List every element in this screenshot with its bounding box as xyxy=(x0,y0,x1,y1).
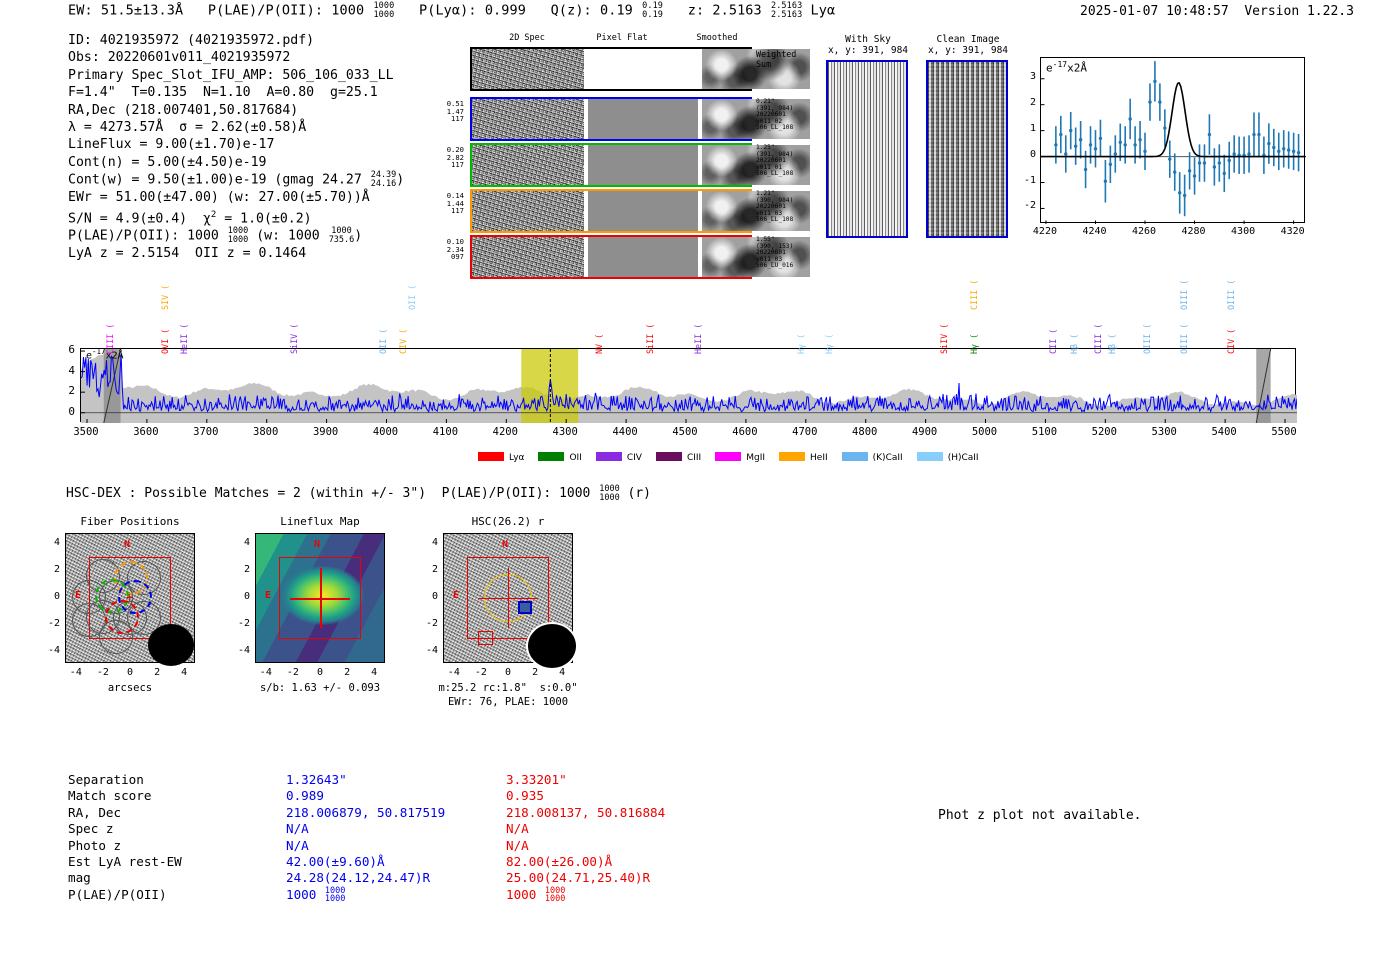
bright-star-blob-2 xyxy=(526,622,578,670)
spec2d-cell-1-0 xyxy=(472,145,584,185)
spec2d-cell-0-0 xyxy=(472,99,584,139)
fraction: 10001000 xyxy=(228,227,248,244)
imaging-xtick-1-4: 4 xyxy=(360,667,388,678)
info-line-z: LyA z = 2.5154 OII z = 0.1464 xyxy=(68,245,404,262)
table-row-match1-2: 218.006879, 50.817519 xyxy=(286,805,445,821)
spec2d-row-side-0: 0.21" (391, 984) 20220601 v011_02 506_LL… xyxy=(756,99,793,132)
legend-swatch-MgII xyxy=(715,452,741,461)
spec2d-cell-3-0 xyxy=(472,237,584,277)
full-spectrum-xtick-4100: 4100 xyxy=(419,426,471,438)
spectrum-line-label-10: HeII ( xyxy=(693,324,703,354)
full-spectrum-xtick-3800: 3800 xyxy=(240,426,292,438)
imaging-xlabel-0: arcsecs xyxy=(33,682,227,694)
spectrum-line-label-9: SiII ( xyxy=(645,324,655,354)
imaging-xtick-2--2: -2 xyxy=(467,667,495,678)
table-row-match2-0: 3.33201" xyxy=(506,772,567,788)
table-row-label-3: Spec z xyxy=(68,821,114,837)
full-spectrum-xtick-3500: 3500 xyxy=(60,426,112,438)
table-row-match1-7: 1000 10001000 xyxy=(286,887,345,904)
fraction: 24.3924.16 xyxy=(371,171,397,188)
spectrum-line-label-16: CII ( xyxy=(1048,329,1058,354)
spec2d-fiber-row-1 xyxy=(470,143,752,187)
spectrum-line-label-2: HeII ( xyxy=(179,324,189,354)
info-line-plae: P(LAE)/P(OII): 1000 10001000 (w: 1000 10… xyxy=(68,227,404,245)
imaging-ytick-0-2: 2 xyxy=(43,564,60,575)
full-spectrum-xtick-3900: 3900 xyxy=(300,426,352,438)
legend-item-(H)CaII: (H)CaII xyxy=(917,452,979,463)
table-row-label-7: P(LAE)/P(OII) xyxy=(68,887,167,903)
spectrum-line-label-1: OVI ( xyxy=(160,329,170,354)
table-row-label-4: Photo z xyxy=(68,838,121,854)
info-line: Cont(n) = 5.00(±4.50)e-19 xyxy=(68,154,404,171)
imaging-xtick-1--4: -4 xyxy=(252,667,280,678)
legend-label-(H)CaII: (H)CaII xyxy=(948,453,979,463)
imaging-ytick-1--4: -4 xyxy=(233,645,250,656)
spectrum-line-label-19: Hβ ( xyxy=(1107,334,1117,354)
line-profile-ytick-3: 3 xyxy=(1018,71,1036,82)
spec2d-row-side-2: 1.21" (390, 984) 20220601 v011_03 506_LL… xyxy=(756,191,793,224)
cutout-image-clean-image xyxy=(926,60,1008,238)
imaging-ytick-1-4: 4 xyxy=(233,537,250,548)
table-row-match1-5: 42.00(±9.60)Å xyxy=(286,854,385,870)
info-line: LineFlux = 9.00(±1.70)e-17 xyxy=(68,136,404,153)
summary-header: EW: 51.5±13.3Å P(LAE)/P(OII): 1000 10001… xyxy=(68,2,835,19)
spectrum-line-label-4: SiIV ( xyxy=(289,324,299,354)
compass-n-1: N xyxy=(314,539,320,550)
weighted-sum-label: Weighted Sum xyxy=(756,50,796,69)
line-profile-xtick-4220: 4220 xyxy=(1023,226,1067,237)
spectrum-line-label-8: NV ( xyxy=(594,334,604,354)
legend-swatch-HeII xyxy=(779,452,805,461)
imaging-ytick-2-4: 4 xyxy=(421,537,438,548)
spectrum-line-label-24: OIII ( xyxy=(1226,280,1236,310)
legend-item-(K)CaII: (K)CaII xyxy=(842,452,903,463)
imaging-ytick-0-4: 4 xyxy=(43,537,60,548)
legend-swatch-OII xyxy=(538,452,564,461)
imaging-ytick-0--4: -4 xyxy=(43,645,60,656)
full-spectrum-ytick-0: 0 xyxy=(60,405,75,418)
spectrum-line-label-21: OIII ( xyxy=(1179,324,1189,354)
bright-star-blob-0 xyxy=(148,624,194,666)
spec2d-cell-3-1 xyxy=(588,237,698,277)
compass-e-1: E xyxy=(265,590,271,601)
source-info-block: ID: 4021935972 (4021935972.pdf)Obs: 2022… xyxy=(68,32,404,263)
imaging-xtick-0-2: 2 xyxy=(143,667,171,678)
spec2d-fiber-row-2 xyxy=(470,189,752,233)
spec2d-weighted-cell-1 xyxy=(588,49,698,89)
info-line: F=1.4" T=0.135 N=1.10 A=0.80 g=25.1 xyxy=(68,84,404,101)
table-row-match1-4: N/A xyxy=(286,838,309,854)
spec2d-fiber-row-3 xyxy=(470,235,752,279)
spec2d-row-meta-1: 0.20 2.82 117 xyxy=(428,146,464,169)
info-line-sn: S/N = 4.9(±0.4) χ2 = 1.0(±0.2) xyxy=(68,207,404,228)
spec2d-col-header-2: Smoothed xyxy=(672,33,762,43)
line-profile-xtick-4300: 4300 xyxy=(1221,226,1265,237)
fraction: 0.190.19 xyxy=(642,2,663,19)
imaging-ytick-1-0: 0 xyxy=(233,591,250,602)
full-spectrum-ytick-4: 4 xyxy=(60,364,75,377)
spec2d-row-meta-3: 0.10 2.34 097 xyxy=(428,238,464,261)
table-row-label-0: Separation xyxy=(68,772,144,788)
imaging-ytick-1--2: -2 xyxy=(233,618,250,629)
spec2d-row-meta-0: 0.51 1.47 117 xyxy=(428,100,464,123)
spec2d-row-side-3: 1.55" (390, 153) 20220601 v011_03 506_LU… xyxy=(756,237,793,270)
compass-n-2: N xyxy=(502,539,508,550)
crosshair-v-1 xyxy=(320,568,322,628)
imaging-ytick-0--2: -2 xyxy=(43,618,60,629)
line-profile-ytick-2: 2 xyxy=(1018,97,1036,108)
legend-label-CIV: CIV xyxy=(627,453,642,463)
table-row-match2-6: 25.00(24.71,25.40)R xyxy=(506,870,650,886)
imaging-sublabel-2: EWr: 76, PLAE: 1000 xyxy=(411,696,605,708)
legend-swatch-(H)CaII xyxy=(917,452,943,461)
cutout-title-with-sky: With Sky x, y: 391, 984 xyxy=(822,34,914,56)
table-row-match2-7: 1000 10001000 xyxy=(506,887,565,904)
info-line-ewr: EWr = 51.00(±47.00) (w: 27.00(±5.70))Å xyxy=(68,189,404,206)
table-row-label-5: Est LyA rest-EW xyxy=(68,854,182,870)
table-row-label-6: mag xyxy=(68,870,91,886)
info-line: Primary Spec_Slot_IFU_AMP: 506_106_033_L… xyxy=(68,67,404,84)
imaging-xtick-2--4: -4 xyxy=(440,667,468,678)
spectrum-line-label-17: Hβ ( xyxy=(1069,334,1079,354)
info-line: ID: 4021935972 (4021935972.pdf) xyxy=(68,32,404,49)
legend-swatch-Lyα xyxy=(478,452,504,461)
full-spectrum-ytick-6: 6 xyxy=(60,343,75,356)
spec2d-row-meta-2: 0.14 1.44 117 xyxy=(428,192,464,215)
cutout-title-clean-image: Clean Image x, y: 391, 984 xyxy=(922,34,1014,56)
spectrum-line-label-22: OIII ( xyxy=(1179,280,1189,310)
spectrum-line-label-23: CIV ( xyxy=(1226,329,1236,354)
legend-item-CIV: CIV xyxy=(596,452,642,463)
table-row-match1-0: 1.32643" xyxy=(286,772,347,788)
spec2d-fiber-row-0 xyxy=(470,97,752,141)
full-spectrum-ytick-2: 2 xyxy=(60,384,75,397)
spec2d-cell-1-1 xyxy=(588,145,698,185)
fraction: 2.51632.5163 xyxy=(771,2,802,19)
spec2d-weighted-sum-row xyxy=(470,47,752,91)
imaging-title-0: Fiber Positions xyxy=(40,515,220,528)
spectrum-line-label-7: OII ( xyxy=(407,285,417,310)
table-row-match2-3: N/A xyxy=(506,821,529,837)
line-profile-canvas xyxy=(1041,58,1306,224)
compass-e-2: E xyxy=(453,590,459,601)
table-row-match1-3: N/A xyxy=(286,821,309,837)
imaging-xtick-0-0: 0 xyxy=(116,667,144,678)
line-profile-ytick-1: 1 xyxy=(1018,123,1036,134)
line-profile-xtick-4320: 4320 xyxy=(1271,226,1315,237)
full-spectrum-canvas xyxy=(81,349,1297,423)
fraction: 10001000 xyxy=(373,2,394,19)
full-spectrum-xtick-4000: 4000 xyxy=(359,426,411,438)
spectrum-line-label-0: CIII ( xyxy=(105,324,115,354)
legend-item-HeII: HeII xyxy=(779,452,828,463)
full-spectrum-xtick-4600: 4600 xyxy=(719,426,771,438)
table-row-label-2: RA, Dec xyxy=(68,805,121,821)
legend-label-CIII: CIII xyxy=(687,453,701,463)
legend-item-MgII: MgII xyxy=(715,452,765,463)
spectrum-line-label-3: SIV ( xyxy=(160,285,170,310)
legend-swatch-(K)CaII xyxy=(842,452,868,461)
imaging-xlabel-2: m:25.2 rc:1.8" s:0.0" xyxy=(411,682,605,694)
table-row-match2-1: 0.935 xyxy=(506,788,544,804)
match-box-blue xyxy=(518,601,532,614)
imaging-ytick-0-0: 0 xyxy=(43,591,60,602)
spectrum-line-label-15: CIII ( xyxy=(969,280,979,310)
line-profile-ytick-0: 0 xyxy=(1018,149,1036,160)
table-row-match1-6: 24.28(24.12,24.47)R xyxy=(286,870,430,886)
full-spectrum-xtick-5300: 5300 xyxy=(1138,426,1190,438)
legend-swatch-CIV xyxy=(596,452,622,461)
full-spectrum-xtick-4700: 4700 xyxy=(779,426,831,438)
spectrum-line-label-11: Hγ ( xyxy=(796,334,806,354)
line-profile-ytick--1: -1 xyxy=(1018,175,1036,186)
imaging-ytick-1-2: 2 xyxy=(233,564,250,575)
legend-swatch-CIII xyxy=(656,452,682,461)
info-line-contw: Cont(w) = 9.50(±1.00)e-19 (gmag 24.27 24… xyxy=(68,171,404,189)
full-spectrum-xtick-5400: 5400 xyxy=(1198,426,1250,438)
spec2d-weighted-cell-0 xyxy=(472,49,584,89)
line-profile-frame xyxy=(1040,57,1305,223)
full-spectrum-xtick-3600: 3600 xyxy=(120,426,172,438)
line-profile-ytick--2: -2 xyxy=(1018,200,1036,211)
imaging-ytick-2--2: -2 xyxy=(421,618,438,629)
fraction: 10001000 xyxy=(545,887,565,904)
full-spectrum-xtick-5500: 5500 xyxy=(1258,426,1310,438)
spectrum-line-label-14: Hγ ( xyxy=(969,334,979,354)
spectrum-line-label-12: Hγ ( xyxy=(824,334,834,354)
legend-label-Lyα: Lyα xyxy=(509,453,524,463)
line-profile-xtick-4260: 4260 xyxy=(1122,226,1166,237)
imaging-xtick-1--2: -2 xyxy=(279,667,307,678)
full-spectrum-frame xyxy=(80,348,1296,422)
legend-label-HeII: HeII xyxy=(810,453,828,463)
imaging-xtick-0--2: -2 xyxy=(89,667,117,678)
imaging-xtick-2-0: 0 xyxy=(494,667,522,678)
table-row-match2-2: 218.008137, 50.816884 xyxy=(506,805,665,821)
spectrum-line-label-5: OII ( xyxy=(378,329,388,354)
full-spectrum-xtick-4200: 4200 xyxy=(479,426,531,438)
full-spectrum-xtick-4300: 4300 xyxy=(539,426,591,438)
line-profile-xtick-4280: 4280 xyxy=(1172,226,1216,237)
imaging-xtick-0-4: 4 xyxy=(170,667,198,678)
info-line: RA,Dec (218.007401,50.817684) xyxy=(68,102,404,119)
full-spectrum-xtick-5000: 5000 xyxy=(959,426,1011,438)
full-spectrum-xtick-4800: 4800 xyxy=(839,426,891,438)
imaging-title-2: HSC(26.2) r xyxy=(418,515,598,528)
imaging-ytick-2--4: -4 xyxy=(421,645,438,656)
legend-label-(K)CaII: (K)CaII xyxy=(873,453,903,463)
full-spectrum-xtick-5200: 5200 xyxy=(1078,426,1130,438)
imaging-title-1: Lineflux Map xyxy=(230,515,410,528)
spectrum-legend: LyαOIICIVCIIIMgIIHeII(K)CaII(H)CaII xyxy=(478,452,993,463)
legend-label-OII: OII xyxy=(569,453,581,463)
full-spectrum-xtick-4400: 4400 xyxy=(599,426,651,438)
fraction: 1000735.6 xyxy=(329,227,355,244)
timestamp-version: 2025-01-07 10:48:57 Version 1.22.3 xyxy=(1080,4,1354,19)
spec2d-cell-2-0 xyxy=(472,191,584,231)
legend-item-OII: OII xyxy=(538,452,581,463)
full-spectrum-xtick-4900: 4900 xyxy=(899,426,951,438)
spectrum-line-label-20: OIII ( xyxy=(1142,324,1152,354)
photz-note: Phot z plot not available. xyxy=(938,808,1142,823)
table-row-match2-5: 82.00(±26.00)Å xyxy=(506,854,612,870)
cutout-image-with-sky xyxy=(826,60,908,238)
line-profile-units: e-17x2Å xyxy=(1046,60,1087,75)
spec2d-cell-2-1 xyxy=(588,191,698,231)
compass-n-0: N xyxy=(124,539,130,550)
fraction: 10001000 xyxy=(599,485,619,502)
full-spectrum-xtick-5100: 5100 xyxy=(1018,426,1070,438)
match-box-red xyxy=(478,631,493,645)
imaging-xtick-1-0: 0 xyxy=(306,667,334,678)
spec2d-col-header-1: Pixel Flat xyxy=(577,33,667,43)
spec2d-cell-0-1 xyxy=(588,99,698,139)
full-spectrum-xtick-3700: 3700 xyxy=(180,426,232,438)
table-row-match1-1: 0.989 xyxy=(286,788,324,804)
fraction: 10001000 xyxy=(325,887,345,904)
hsc-dex-header: HSC-DEX : Possible Matches = 2 (within +… xyxy=(66,485,651,502)
spec2d-col-header-0: 2D Spec xyxy=(482,33,572,43)
table-row-match2-4: N/A xyxy=(506,838,529,854)
spectrum-line-label-18: CIII ( xyxy=(1093,324,1103,354)
line-profile-xtick-4240: 4240 xyxy=(1072,226,1116,237)
center-marker-0: + xyxy=(126,590,133,604)
spectrum-line-label-13: SiIV ( xyxy=(939,324,949,354)
spectrum-line-label-6: CIV ( xyxy=(398,329,408,354)
fiber-circle-highlight-3 xyxy=(105,600,139,634)
info-line: Obs: 20220601v011_4021935972 xyxy=(68,49,404,66)
info-line: λ = 4273.57Å σ = 2.62(±0.58)Å xyxy=(68,119,404,136)
imaging-xtick-0--4: -4 xyxy=(62,667,90,678)
imaging-ytick-2-0: 0 xyxy=(421,591,438,602)
legend-label-MgII: MgII xyxy=(746,453,765,463)
imaging-xtick-1-2: 2 xyxy=(333,667,361,678)
imaging-xlabel-1: s/b: 1.63 +/- 0.093 xyxy=(223,682,417,694)
legend-item-Lyα: Lyα xyxy=(478,452,524,463)
spec2d-row-side-1: 1.25" (391, 984) 20220601 v011_01 506_LL… xyxy=(756,145,793,178)
table-row-label-1: Match score xyxy=(68,788,151,804)
crosshair-v-2 xyxy=(508,568,509,628)
legend-item-CIII: CIII xyxy=(656,452,701,463)
imaging-ytick-2-2: 2 xyxy=(421,564,438,575)
full-spectrum-xtick-4500: 4500 xyxy=(659,426,711,438)
